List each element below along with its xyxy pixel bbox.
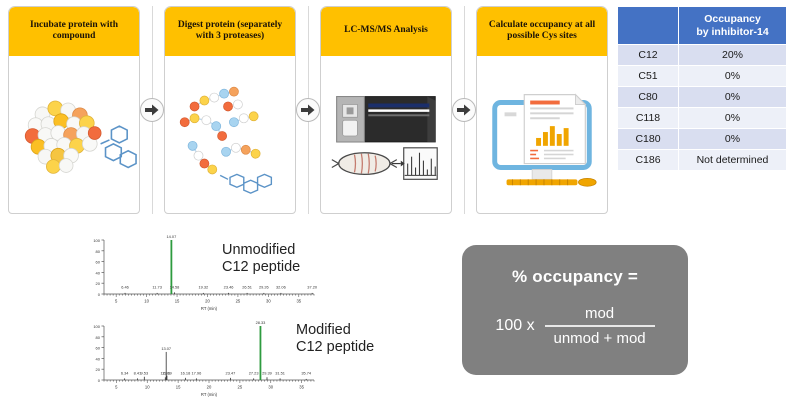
svg-text:10: 10 (145, 385, 150, 390)
caption-line-1: Unmodified (222, 242, 300, 259)
workflow-step-incubate: Incubate protein with compound (8, 6, 140, 214)
digested-peptides-icon (165, 60, 295, 210)
protein-blob-with-compound-icon (9, 60, 139, 210)
formula-title: % occupancy = (512, 267, 638, 287)
workflow-arrow-3 (452, 6, 476, 214)
svg-text:30: 30 (266, 299, 271, 304)
cys-site-label: C12 (618, 45, 679, 66)
svg-text:13.07: 13.07 (161, 346, 171, 351)
caption-unmodified-peptide: Unmodified C12 peptide (222, 242, 300, 276)
svg-text:20: 20 (205, 299, 210, 304)
occupancy-value: Not determined (679, 150, 787, 171)
table-row: C186 Not determined (618, 150, 787, 171)
table-header-row: Occupancy by inhibitor-14 (618, 7, 787, 45)
occupancy-formula-box: % occupancy = 100 x mod unmod + mod (462, 245, 688, 375)
svg-text:15: 15 (175, 299, 180, 304)
svg-text:RT (min): RT (min) (201, 306, 218, 311)
table-row: C180 0% (618, 129, 787, 150)
formula-expression: 100 x mod unmod + mod (495, 305, 654, 347)
svg-text:100: 100 (93, 324, 100, 329)
occupancy-value: 20% (679, 45, 787, 66)
workflow-step-title: LC-MS/MS Analysis (321, 7, 451, 56)
svg-text:5: 5 (115, 299, 118, 304)
cys-site-label: C80 (618, 87, 679, 108)
formula-denominator: unmod + mod (553, 327, 645, 347)
formula-fraction: mod unmod + mod (545, 305, 655, 347)
svg-text:100: 100 (93, 238, 100, 243)
svg-text:35: 35 (296, 299, 301, 304)
svg-text:25: 25 (238, 385, 243, 390)
arrow-glyph (145, 104, 159, 116)
svg-text:6.46: 6.46 (121, 285, 129, 290)
cys-site-label: C186 (618, 150, 679, 171)
svg-text:RT (min): RT (min) (201, 392, 218, 397)
svg-text:20: 20 (96, 367, 101, 372)
occupancy-value: 0% (679, 87, 787, 108)
svg-text:9.53: 9.53 (141, 371, 149, 376)
table-row: C51 0% (618, 66, 787, 87)
svg-text:27.23: 27.23 (249, 371, 259, 376)
svg-text:6.34: 6.34 (121, 371, 129, 376)
workflow-step-illustration (321, 56, 451, 213)
svg-text:23.47: 23.47 (226, 371, 236, 376)
table-row: C118 0% (618, 108, 787, 129)
cys-site-label: C180 (618, 129, 679, 150)
workflow-step-illustration (9, 56, 139, 213)
formula-multiplier: 100 x (495, 317, 534, 335)
svg-text:17.96: 17.96 (192, 371, 202, 376)
svg-text:60: 60 (96, 346, 101, 351)
caption-modified-peptide: Modified C12 peptide (296, 322, 374, 356)
svg-text:37.20: 37.20 (307, 285, 318, 290)
right-arrow-icon (452, 98, 476, 122)
svg-text:32.06: 32.06 (276, 285, 286, 290)
workflow-step-illustration (165, 56, 295, 213)
svg-text:19.32: 19.32 (198, 285, 208, 290)
cys-site-label: C118 (618, 108, 679, 129)
workflow-step-illustration: × (477, 56, 607, 213)
occupancy-value: 0% (679, 129, 787, 150)
figure-canvas: Incubate protein with compound (0, 0, 795, 403)
svg-text:0: 0 (98, 292, 101, 297)
computer-report-icon: × (477, 60, 607, 210)
caption-line-1: Modified (296, 322, 374, 339)
occupancy-table: Occupancy by inhibitor-14 C12 20% C51 0%… (617, 6, 787, 171)
svg-text:35: 35 (299, 385, 304, 390)
svg-text:29.39: 29.39 (262, 371, 272, 376)
svg-text:30: 30 (268, 385, 273, 390)
svg-text:29.26: 29.26 (259, 285, 269, 290)
cys-site-label: C51 (618, 66, 679, 87)
svg-text:14.58: 14.58 (170, 285, 180, 290)
svg-text:40: 40 (96, 270, 101, 275)
table-column-header-occupancy: Occupancy by inhibitor-14 (679, 7, 787, 45)
svg-text:20: 20 (207, 385, 212, 390)
workflow-arrow-1 (140, 6, 164, 214)
workflow-arrow-2 (296, 6, 320, 214)
header-line-2: by inhibitor-14 (696, 26, 768, 38)
svg-text:31.51: 31.51 (275, 371, 285, 376)
svg-text:60: 60 (96, 260, 101, 265)
svg-text:25: 25 (236, 299, 241, 304)
svg-text:80: 80 (96, 335, 101, 340)
right-arrow-icon (140, 98, 164, 122)
workflow-step-title: Digest protein (separately with 3 protea… (165, 7, 295, 56)
svg-text:11.73: 11.73 (152, 285, 161, 290)
svg-text:15: 15 (176, 385, 181, 390)
svg-text:80: 80 (96, 249, 101, 254)
svg-text:5: 5 (115, 385, 118, 390)
svg-text:13.19: 13.19 (162, 371, 172, 376)
occupancy-value: 0% (679, 108, 787, 129)
workflow-step-title: Incubate protein with compound (9, 7, 139, 56)
formula-numerator: mod (585, 305, 614, 325)
table-corner-header (618, 7, 679, 45)
svg-text:26.51: 26.51 (242, 285, 252, 290)
right-arrow-icon (296, 98, 320, 122)
header-line-1: Occupancy (704, 13, 761, 25)
arrow-glyph (301, 104, 315, 116)
mass-spectrometer-icon (321, 60, 451, 210)
svg-text:40: 40 (96, 356, 101, 361)
svg-text:28.33: 28.33 (256, 320, 266, 325)
svg-text:16.18: 16.18 (181, 371, 191, 376)
workflow-step-lcmsms: LC-MS/MS Analysis (320, 6, 452, 214)
caption-line-2: C12 peptide (296, 339, 374, 356)
workflow-step-title: Calculate occupancy at all possible Cys … (477, 7, 607, 56)
workflow-step-calculate-occupancy: Calculate occupancy at all possible Cys … (476, 6, 608, 214)
occupancy-value: 0% (679, 66, 787, 87)
chromatogram-modified: 0204060801005101520253035RT (min)28.3313… (78, 318, 318, 400)
chromatogram-modified-plot: 0204060801005101520253035RT (min)28.3313… (78, 318, 318, 400)
svg-text:23.46: 23.46 (224, 285, 234, 290)
arrow-glyph (457, 104, 471, 116)
workflow-diagram: Incubate protein with compound (8, 6, 608, 214)
caption-line-2: C12 peptide (222, 259, 300, 276)
svg-text:14.07: 14.07 (167, 234, 177, 239)
table-row: C80 0% (618, 87, 787, 108)
svg-text:0: 0 (98, 378, 101, 383)
svg-text:20: 20 (96, 281, 101, 286)
table-row: C12 20% (618, 45, 787, 66)
svg-text:35.74: 35.74 (301, 371, 312, 376)
svg-text:10: 10 (144, 299, 149, 304)
workflow-step-digest: Digest protein (separately with 3 protea… (164, 6, 296, 214)
